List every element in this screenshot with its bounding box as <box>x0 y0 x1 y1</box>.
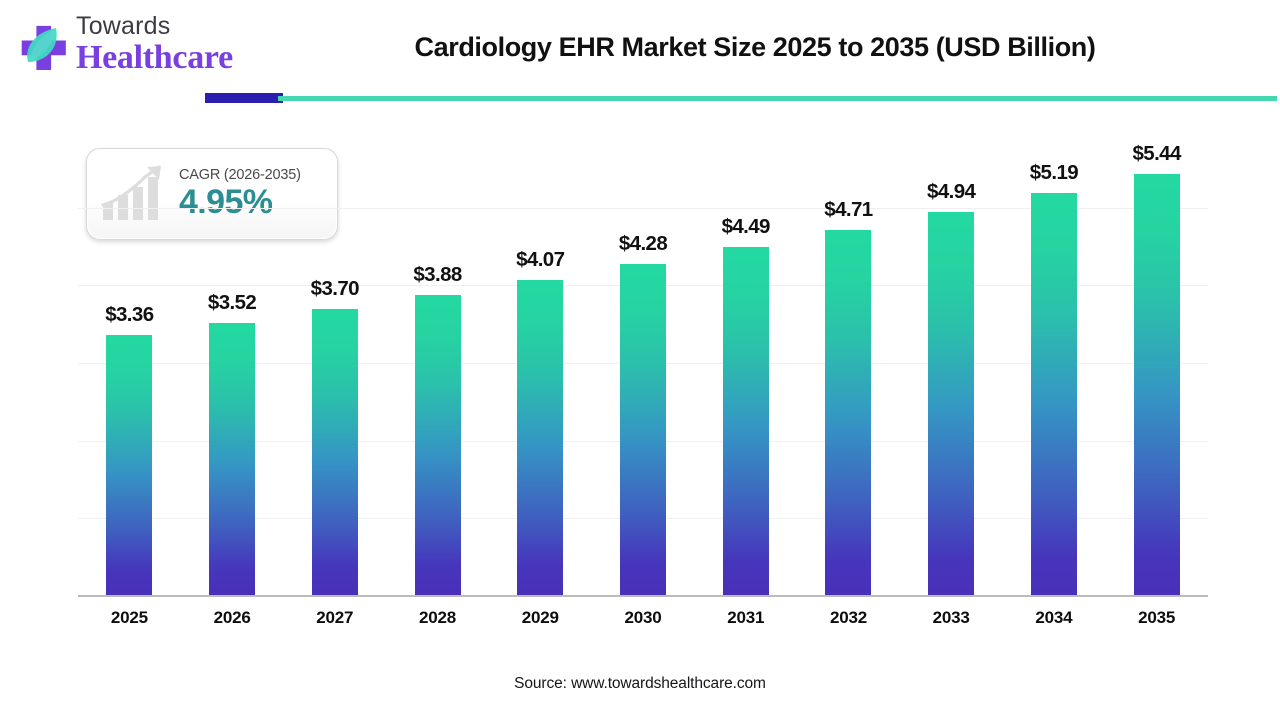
bar <box>415 295 461 596</box>
bar-group: $3.52 <box>209 130 255 596</box>
brand-name-line1: Towards <box>76 12 256 40</box>
source-attribution: Source: www.towardshealthcare.com <box>0 675 1280 693</box>
chart-page: Towards Healthcare Cardiology EHR Market… <box>0 0 1280 720</box>
bar-group: $3.70 <box>312 130 358 596</box>
x-axis-label: 2035 <box>1097 608 1217 628</box>
bar <box>825 230 871 596</box>
divider-accent <box>205 93 283 103</box>
bar-group: $4.71 <box>825 130 871 596</box>
bar-group: $5.44 <box>1134 130 1180 596</box>
bar-group: $4.28 <box>620 130 666 596</box>
bar-group: $4.94 <box>928 130 974 596</box>
bar <box>106 335 152 596</box>
bar <box>928 212 974 596</box>
page-title: Cardiology EHR Market Size 2025 to 2035 … <box>250 32 1260 63</box>
page-header: Towards Healthcare Cardiology EHR Market… <box>0 0 1280 100</box>
brand-logo-text: Towards Healthcare <box>76 12 256 76</box>
bar <box>723 247 769 596</box>
purple-cross-leaf-logo-icon <box>16 22 72 78</box>
bar <box>1031 193 1077 596</box>
bar <box>209 323 255 596</box>
bar-group: $3.88 <box>415 130 461 596</box>
bar-group: $5.19 <box>1031 130 1077 596</box>
bar <box>517 280 563 596</box>
bar-value-label: $5.44 <box>1097 142 1217 166</box>
bar <box>1134 174 1180 597</box>
bar-group: $4.49 <box>723 130 769 596</box>
brand-name-line2: Healthcare <box>76 40 256 76</box>
bar-group: $3.36 <box>106 130 152 596</box>
bar <box>620 264 666 596</box>
bar <box>312 309 358 596</box>
divider-line <box>278 96 1277 101</box>
chart-plot-area: $3.36$3.52$3.70$3.88$4.07$4.28$4.49$4.71… <box>78 130 1208 596</box>
brand-logo: Towards Healthcare <box>16 12 246 87</box>
bar-group: $4.07 <box>517 130 563 596</box>
x-axis-line <box>78 595 1208 597</box>
